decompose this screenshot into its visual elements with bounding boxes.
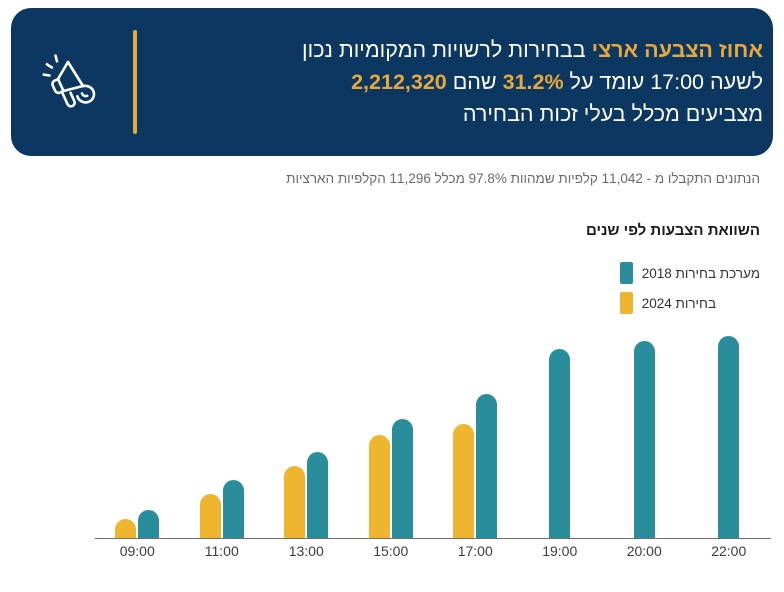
bar[interactable] (223, 480, 244, 538)
bar[interactable] (718, 336, 739, 538)
bar[interactable] (115, 519, 136, 538)
bar[interactable] (392, 419, 413, 538)
x-tick-0900: 09:00 (95, 543, 180, 559)
legend-label-2024: בחירות 2024 (642, 296, 716, 311)
banner-line-1: אחוז הצבעה ארצי בבחירות לרשויות המקומיות… (165, 34, 763, 66)
x-tick-1500: 15:00 (349, 543, 434, 559)
x-tick-1700: 17:00 (433, 543, 518, 559)
legend-item-2024[interactable]: בחירות 2024 (620, 292, 716, 314)
legend-label-2018: מערכת בחירות 2018 (642, 266, 760, 281)
megaphone-icon (34, 46, 106, 118)
bar-groups (95, 330, 771, 538)
banner-highlight-voters: 2,212,320 (351, 70, 447, 94)
x-axis-tick-labels: 09:0011:0013:0015:0017:0019:0020:0022:00 (95, 543, 771, 573)
bar-group[interactable] (518, 330, 603, 538)
x-tick-2200: 22:00 (687, 543, 772, 559)
chart-legend: מערכת בחירות 2018 בחירות 2024 (620, 262, 760, 314)
headline-banner: אחוז הצבעה ארצי בבחירות לרשויות המקומיות… (11, 8, 773, 156)
bar-group[interactable] (180, 330, 265, 538)
banner-line-2-b: שהם (447, 70, 503, 94)
banner-line-2: לשעה 17:00 עומד על 31.2% שהם 2,212,320 (165, 66, 763, 98)
bar[interactable] (549, 349, 570, 538)
bar[interactable] (634, 341, 655, 538)
bar[interactable] (200, 494, 221, 538)
banner-line-3: מצביעים מכלל בעלי זכות הבחירה (165, 98, 763, 130)
chart-title: השוואת הצבעות לפי שנים (586, 220, 760, 242)
legend-swatch-2018 (620, 262, 633, 284)
bar-group[interactable] (349, 330, 434, 538)
bar[interactable] (138, 510, 159, 538)
legend-swatch-2024 (620, 292, 633, 314)
banner-accent-divider (133, 30, 137, 134)
x-tick-1100: 11:00 (180, 543, 265, 559)
bar[interactable] (369, 435, 390, 538)
bar[interactable] (476, 394, 497, 538)
legend-item-2018[interactable]: מערכת בחירות 2018 (620, 262, 760, 284)
bar-chart-plot: 09:0011:0013:0015:0017:0019:0020:0022:00 (0, 330, 784, 592)
x-tick-2000: 20:00 (602, 543, 687, 559)
banner-icon-area (11, 8, 129, 156)
bar-group[interactable] (602, 330, 687, 538)
x-tick-1900: 19:00 (518, 543, 603, 559)
data-source-note: הנתונים התקבלו מ - 11,042 קלפיות שמהוות … (20, 170, 760, 188)
bar-group[interactable] (433, 330, 518, 538)
bar[interactable] (307, 452, 328, 538)
bar-group[interactable] (687, 330, 772, 538)
x-axis-line (95, 538, 771, 539)
banner-highlight-percent: 31.2% (503, 70, 564, 94)
banner-line-1-rest: בבחירות לרשויות המקומיות נכון (302, 38, 592, 62)
banner-line-2-a: לשעה 17:00 עומד על (564, 70, 763, 94)
banner-highlight-topic: אחוז הצבעה ארצי (592, 38, 763, 62)
x-tick-1300: 13:00 (264, 543, 349, 559)
bar-group[interactable] (264, 330, 349, 538)
bar[interactable] (284, 466, 305, 538)
bar-group[interactable] (95, 330, 180, 538)
bar[interactable] (453, 424, 474, 538)
banner-headline: אחוז הצבעה ארצי בבחירות לרשויות המקומיות… (137, 34, 773, 130)
